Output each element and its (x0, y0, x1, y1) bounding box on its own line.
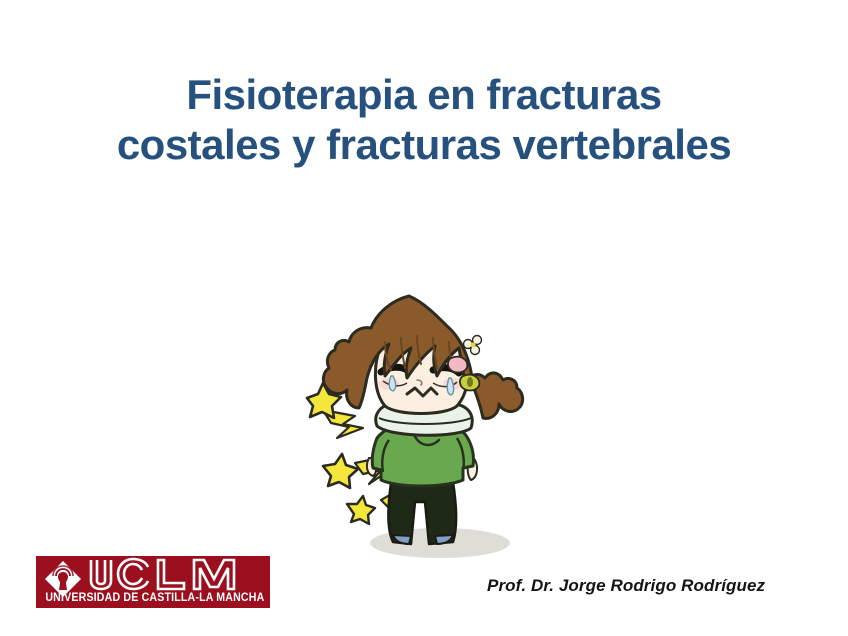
left-tear-drop (389, 376, 395, 391)
crying-chibi-girl-illustration (285, 288, 555, 573)
page-title: Fisioterapia en fracturas costales y fra… (0, 70, 848, 169)
uclm-logo-subtitle: UNIVERSIDAD DE CASTILLA-LA MANCHA (45, 592, 260, 604)
pain-star-3 (347, 496, 375, 524)
uclm-logo: UNIVERSIDAD DE CASTILLA-LA MANCHA (36, 556, 270, 608)
uclm-acronym-letters (86, 557, 266, 592)
author-credit: Prof. Dr. Jorge Rodrigo Rodríguez (487, 576, 765, 596)
pain-star-2 (323, 454, 358, 488)
title-line-1: Fisioterapia en fracturas (0, 70, 848, 120)
green-leaf-inner (467, 377, 473, 387)
title-line-2: costales y fracturas vertebrales (0, 120, 848, 170)
slide-canvas: Fisioterapia en fracturas costales y fra… (0, 0, 848, 636)
pink-petal-accessory (448, 357, 467, 373)
right-tear-drop (447, 378, 453, 395)
